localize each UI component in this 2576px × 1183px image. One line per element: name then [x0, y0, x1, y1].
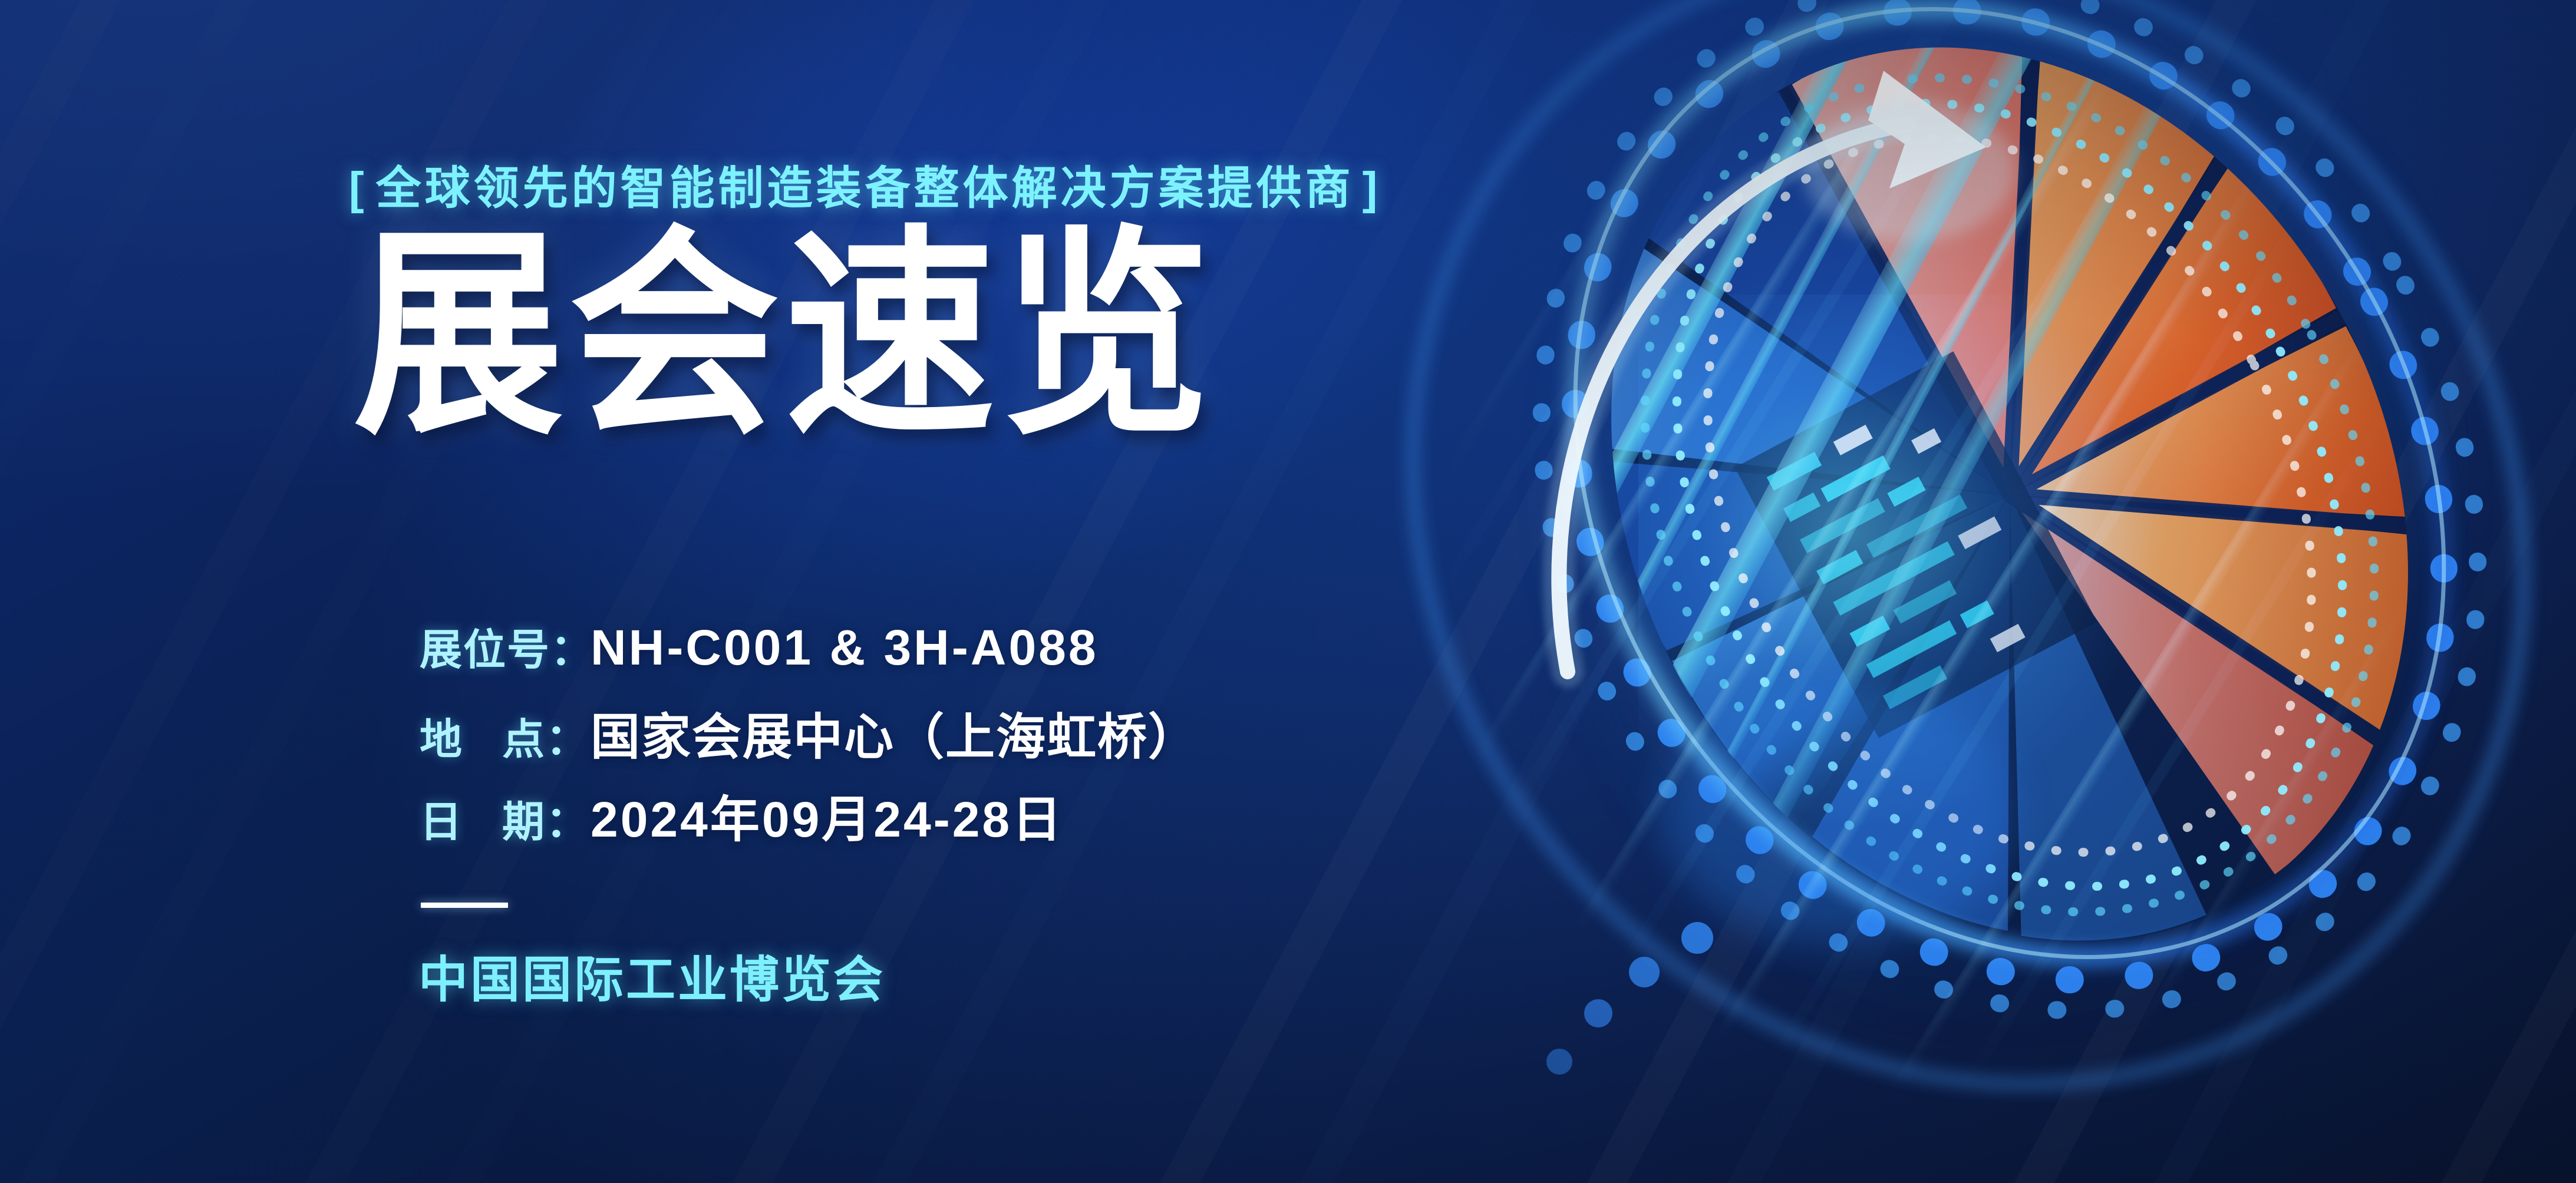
bracket-right-icon: ]	[1363, 163, 1381, 214]
exhibition-info-list: 展位号： NH-C001 & 3H-A088 地点： 国家会展中心（上海虹桥） …	[420, 615, 1480, 863]
page-title: 展会速览	[354, 225, 1216, 447]
info-label-date: 日期：	[420, 787, 591, 849]
info-row-date: 日期： 2024年09月24-28日	[420, 780, 1480, 863]
info-value-booth: NH-C001 & 3H-A088	[591, 619, 1099, 676]
tagline: [全球领先的智能制造装备整体解决方案提供商]	[349, 152, 1381, 217]
bracket-left-icon: [	[349, 163, 368, 214]
info-value-date: 2024年09月24-28日	[591, 780, 1064, 851]
banner-content: [全球领先的智能制造装备整体解决方案提供商] 展会速览 展位号： NH-C001…	[349, 0, 1822, 1183]
section-divider	[421, 903, 508, 908]
event-name: 中国国际工业博览会	[418, 940, 885, 1012]
info-label-venue: 地点：	[420, 705, 591, 766]
tagline-text: 全球领先的智能制造装备整体解决方案提供商	[376, 163, 1354, 214]
info-row-venue: 地点： 国家会展中心（上海虹桥）	[420, 698, 1480, 780]
info-row-booth: 展位号： NH-C001 & 3H-A088	[420, 615, 1480, 698]
info-label-booth: 展位号：	[420, 615, 591, 677]
exhibition-banner: [全球领先的智能制造装备整体解决方案提供商] 展会速览 展位号： NH-C001…	[0, 0, 2576, 1183]
info-value-venue: 国家会展中心（上海虹桥）	[591, 698, 1199, 769]
sphere-orange-segments	[1789, 0, 2558, 902]
sphere-segment-gaps	[1785, 0, 2526, 844]
